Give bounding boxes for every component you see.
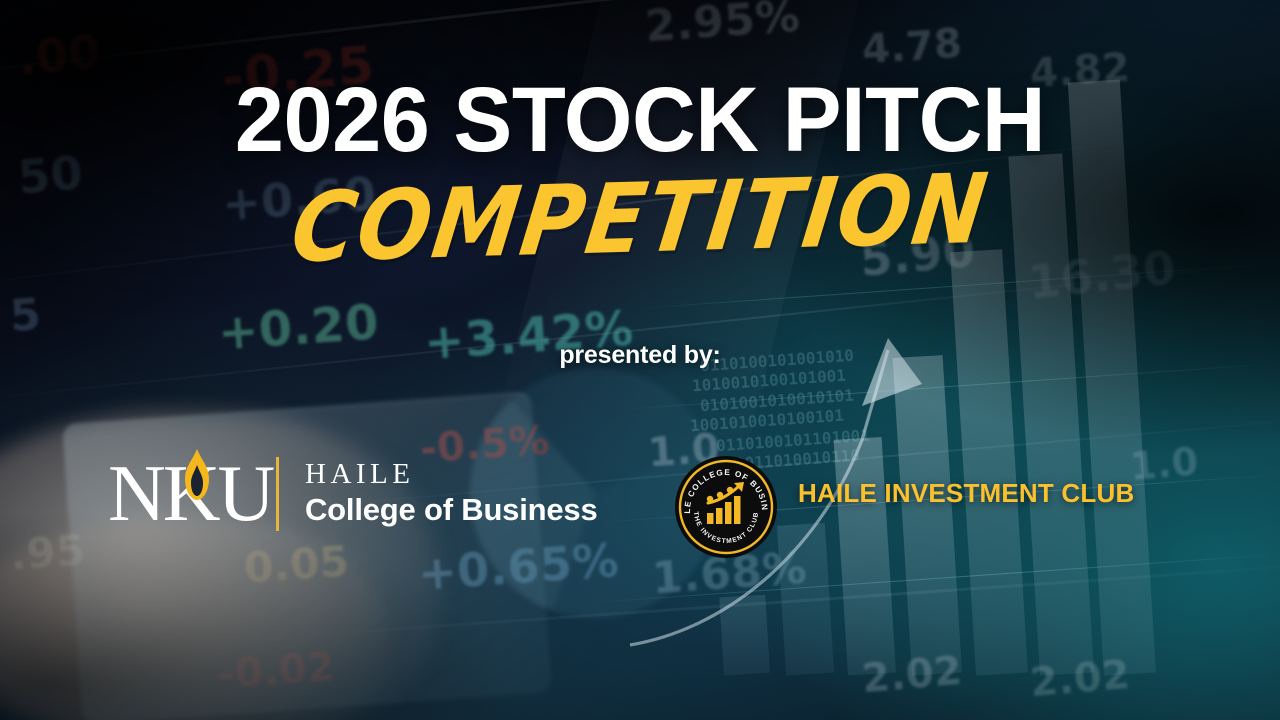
nku-flame-icon — [184, 449, 210, 501]
stock-pitch-competition-poster: 0110100101001010101001010010100101010010… — [0, 0, 1280, 720]
college-of-business-wordmark: College of Business — [305, 492, 598, 529]
presented-by-label: presented by: — [0, 341, 1280, 370]
title-script-word: COMPETITION — [0, 153, 1280, 285]
haile-investment-club-name: HAILE INVESTMENT CLUB — [798, 478, 1134, 509]
page-title: 2026 STOCK PITCH — [26, 74, 1255, 166]
nku-monogram-mark: NKU — [108, 453, 258, 535]
seal-graphic: HAILE COLLEGE OF BUSINESS THE INVESTMENT… — [674, 455, 778, 559]
nku-monogram-text: NKU — [108, 453, 258, 535]
logo-divider — [276, 457, 279, 531]
investment-club-seal: HAILE COLLEGE OF BUSINESS THE INVESTMENT… — [674, 455, 778, 559]
nku-haile-logo: NKU HAILE College of Business — [108, 449, 598, 539]
haile-wordmark: HAILE — [305, 459, 598, 489]
